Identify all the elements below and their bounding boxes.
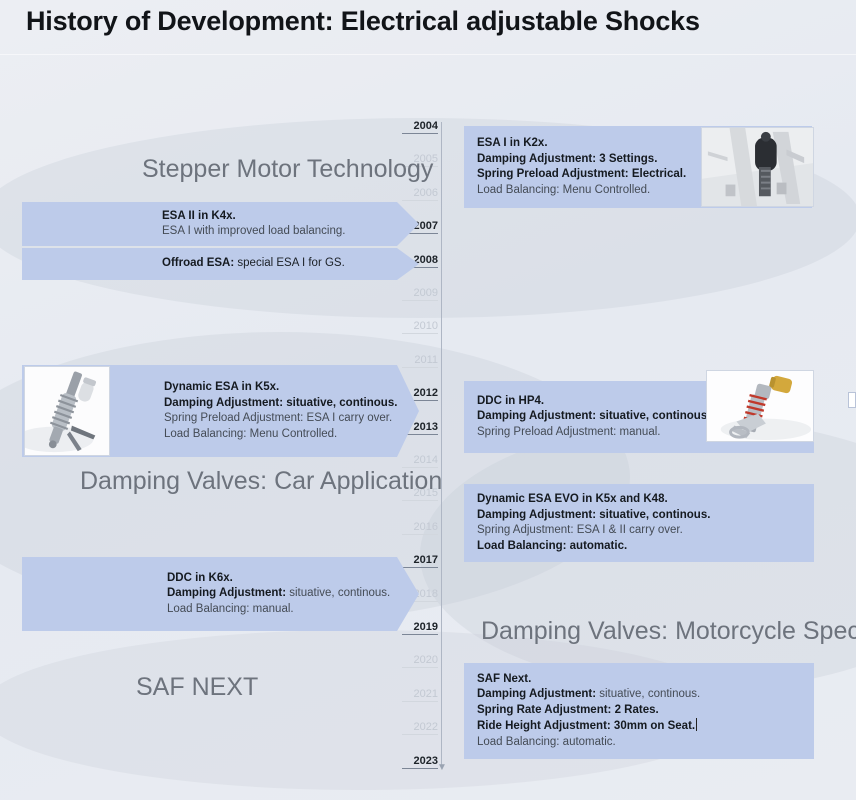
text-cursor xyxy=(696,718,697,731)
timeline-year-2009: 2009 xyxy=(402,287,438,301)
entry-line: Load Balancing: Menu Controlled. xyxy=(477,183,686,199)
timeline-end-arrow: ▼ xyxy=(437,763,446,772)
timeline-year-2017: 2017 xyxy=(402,554,438,568)
timeline-year-2023: 2023 xyxy=(402,755,438,769)
entry-line: Damping Adjustment: situative, continous… xyxy=(477,508,710,524)
entry-line: ESA I in K2x. xyxy=(477,136,686,152)
entry-line: SAF Next. xyxy=(477,672,700,688)
entry-line: Spring Preload Adjustment: ESA I carry o… xyxy=(164,411,397,427)
entry-line: Dynamic ESA EVO in K5x and K48. xyxy=(477,492,710,508)
entry-line: situative, continous. xyxy=(596,688,700,700)
entry-line: DDC in HP4. xyxy=(477,394,710,410)
entry-line-bold: Damping Adjustment: xyxy=(167,587,286,599)
image-dynamic-esa-render[interactable] xyxy=(24,366,110,456)
entry-dynamic-esa-evo[interactable]: Dynamic ESA EVO in K5x and K48. Damping … xyxy=(464,484,814,562)
clipped-shape-right-edge xyxy=(848,392,856,408)
entry-offroad-esa[interactable]: Offroad ESA: special ESA I for GS. xyxy=(22,248,419,280)
entry-line: Load Balancing: manual. xyxy=(167,602,390,618)
entry-line: Spring Adjustment: ESA I & II carry over… xyxy=(477,523,710,539)
era-label-car: Damping Valves: Car Application xyxy=(80,466,442,496)
entry-saf-next[interactable]: SAF Next. Damping Adjustment: situative,… xyxy=(464,663,814,759)
era-label-stepper: Stepper Motor Technology xyxy=(142,154,433,184)
timeline-year-2020: 2020 xyxy=(402,654,438,668)
entry-line: Damping Adjustment: situative, continous… xyxy=(164,396,397,412)
timeline-year-2006: 2006 xyxy=(402,187,438,201)
entry-line-text: Ride Height Adjustment: 30mm on Seat. xyxy=(477,720,695,732)
timeline-year-2004: 2004 xyxy=(402,120,438,134)
timeline-year-2019: 2019 xyxy=(402,621,438,635)
entry-line: Spring Preload Adjustment: Electrical. xyxy=(477,167,686,183)
entry-line: Load Balancing: automatic. xyxy=(477,735,700,751)
page-title: History of Development: Electrical adjus… xyxy=(26,6,700,37)
entry-line: special ESA I for GS. xyxy=(234,257,345,269)
entry-line: DDC in K6x. xyxy=(167,571,390,587)
entry-line: Damping Adjustment: 3 Settings. xyxy=(477,152,686,168)
entry-line: Damping Adjustment: situative, continous… xyxy=(477,409,710,425)
entry-line-bold: Offroad ESA: xyxy=(162,257,234,269)
title-divider xyxy=(0,54,856,55)
entry-line: ESA I with improved load balancing. xyxy=(162,224,345,240)
entry-line: Load Balancing: automatic. xyxy=(477,539,710,555)
entry-line: Damping Adjustment: situative, continous… xyxy=(167,586,390,602)
timeline-year-2011: 2011 xyxy=(402,354,438,368)
entry-line: Ride Height Adjustment: 30mm on Seat. xyxy=(477,718,700,735)
timeline-axis xyxy=(441,122,442,767)
entry-ddc-k6x[interactable]: DDC in K6x. Damping Adjustment: situativ… xyxy=(22,557,419,631)
timeline-year-2010: 2010 xyxy=(402,320,438,334)
timeline-year-2022: 2022 xyxy=(402,721,438,735)
image-ddc-hp4-render[interactable] xyxy=(706,370,814,442)
entry-line: Dynamic ESA in K5x. xyxy=(164,380,397,396)
entry-line: Load Balancing: Menu Controlled. xyxy=(164,427,397,443)
slide-canvas: History of Development: Electrical adjus… xyxy=(0,0,856,800)
entry-esa2-k4x[interactable]: ESA II in K4x. ESA I with improved load … xyxy=(22,202,419,246)
era-label-motorcycle: Damping Valves: Motorcycle Specific xyxy=(481,616,856,646)
entry-line: Damping Adjustment: situative, continous… xyxy=(477,687,700,703)
timeline-year-2021: 2021 xyxy=(402,688,438,702)
entry-line: Spring Preload Adjustment: manual. xyxy=(477,425,710,441)
era-label-saf: SAF NEXT xyxy=(136,672,258,702)
entry-line-bold: Damping Adjustment: xyxy=(477,688,596,700)
entry-line: Spring Rate Adjustment: 2 Rates. xyxy=(477,703,700,719)
entry-line: situative, continous. xyxy=(286,587,390,599)
image-esa1-motorcycle-shock[interactable] xyxy=(701,127,814,207)
entry-line: ESA II in K4x. xyxy=(162,209,345,225)
timeline-year-2016: 2016 xyxy=(402,521,438,535)
